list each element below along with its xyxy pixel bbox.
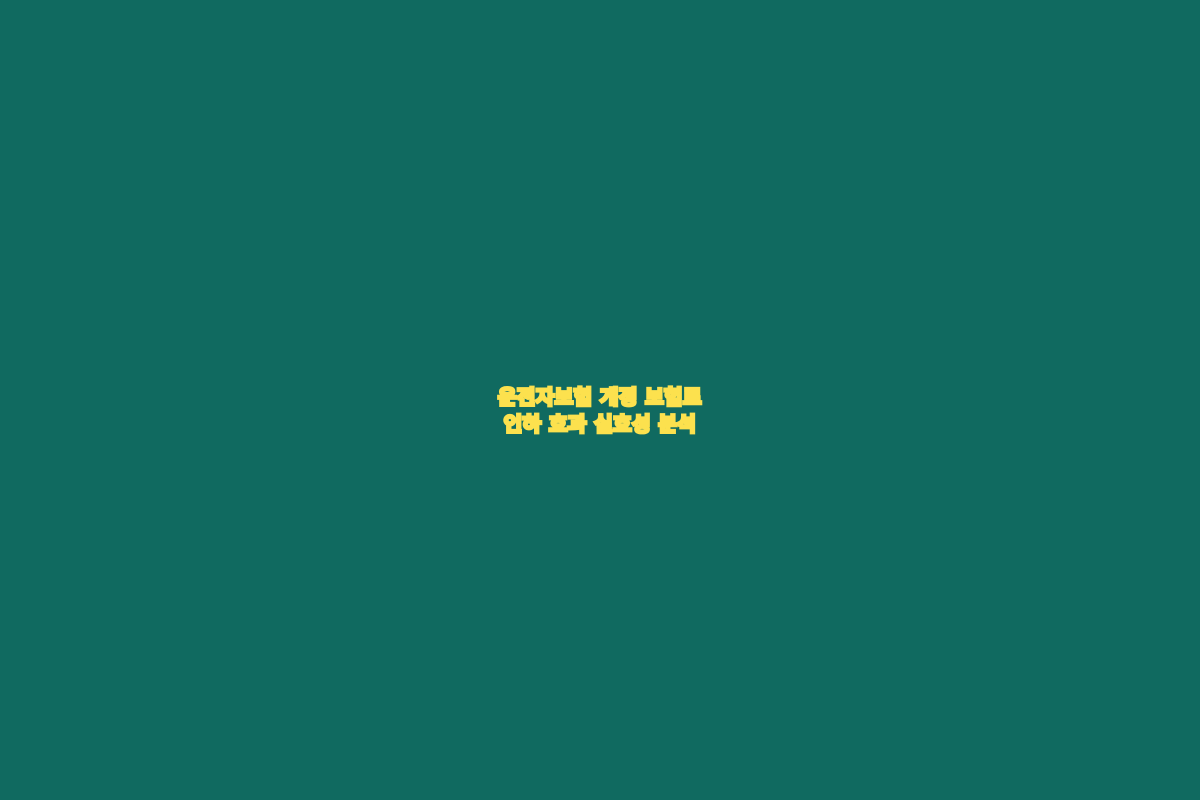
headline-block: 운전자보험 개정 보험료 인하 효과 실효성 분석 — [0, 384, 1200, 438]
title-card-banner: 운전자보험 개정 보험료 인하 효과 실효성 분석 — [0, 0, 1200, 800]
headline-line-1: 운전자보험 개정 보험료 — [40, 384, 1160, 411]
headline-line-2: 인하 효과 실효성 분석 — [40, 411, 1160, 438]
